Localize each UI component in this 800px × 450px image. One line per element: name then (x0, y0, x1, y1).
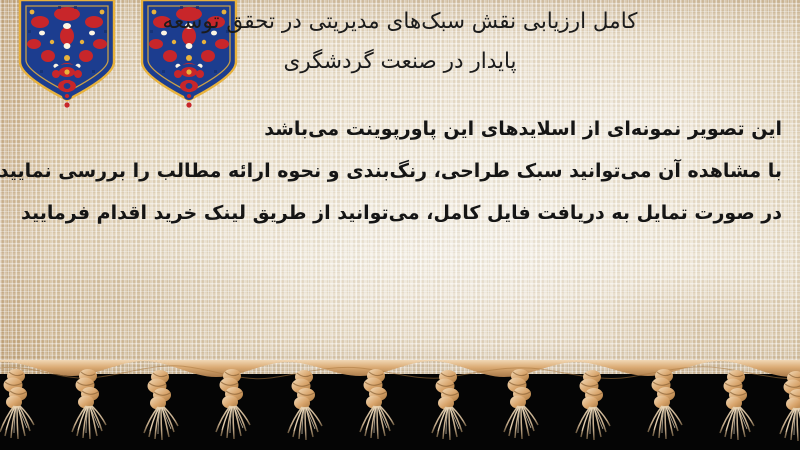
tassel (360, 369, 394, 439)
tassel (576, 370, 610, 440)
slide-body-text: این تصویر نمونه‌ای از اسلایدهای این پاور… (18, 108, 782, 234)
tassel (648, 369, 682, 439)
slide-body-line-3: در صورت تمایل به دریافت فایل کامل، می‌تو… (18, 192, 782, 234)
slide-body-line-2: با مشاهده آن می‌توانید سبک طراحی، رنگ‌بن… (18, 150, 782, 192)
tassel (144, 370, 178, 440)
slide-body-line-1: این تصویر نمونه‌ای از اسلایدهای این پاور… (18, 108, 782, 150)
carpet-fringe (0, 360, 800, 450)
tassel (72, 369, 106, 439)
tassel (720, 370, 754, 440)
tassel (288, 370, 322, 440)
slide-title-line-1: کامل ارزیابی نقش سبک‌های مدیریتی در تحقق… (10, 2, 790, 42)
slide-canvas: کامل ارزیابی نقش سبک‌های مدیریتی در تحقق… (0, 0, 800, 450)
tassel (216, 369, 250, 439)
fringe-tassels-svg (0, 360, 800, 450)
tassel (504, 369, 538, 439)
slide-title: کامل ارزیابی نقش سبک‌های مدیریتی در تحقق… (10, 2, 790, 82)
tassel (432, 370, 466, 440)
tassel (0, 369, 34, 439)
slide-title-line-2: پایدار در صنعت گردشگری (10, 42, 790, 82)
tassel (780, 371, 800, 441)
